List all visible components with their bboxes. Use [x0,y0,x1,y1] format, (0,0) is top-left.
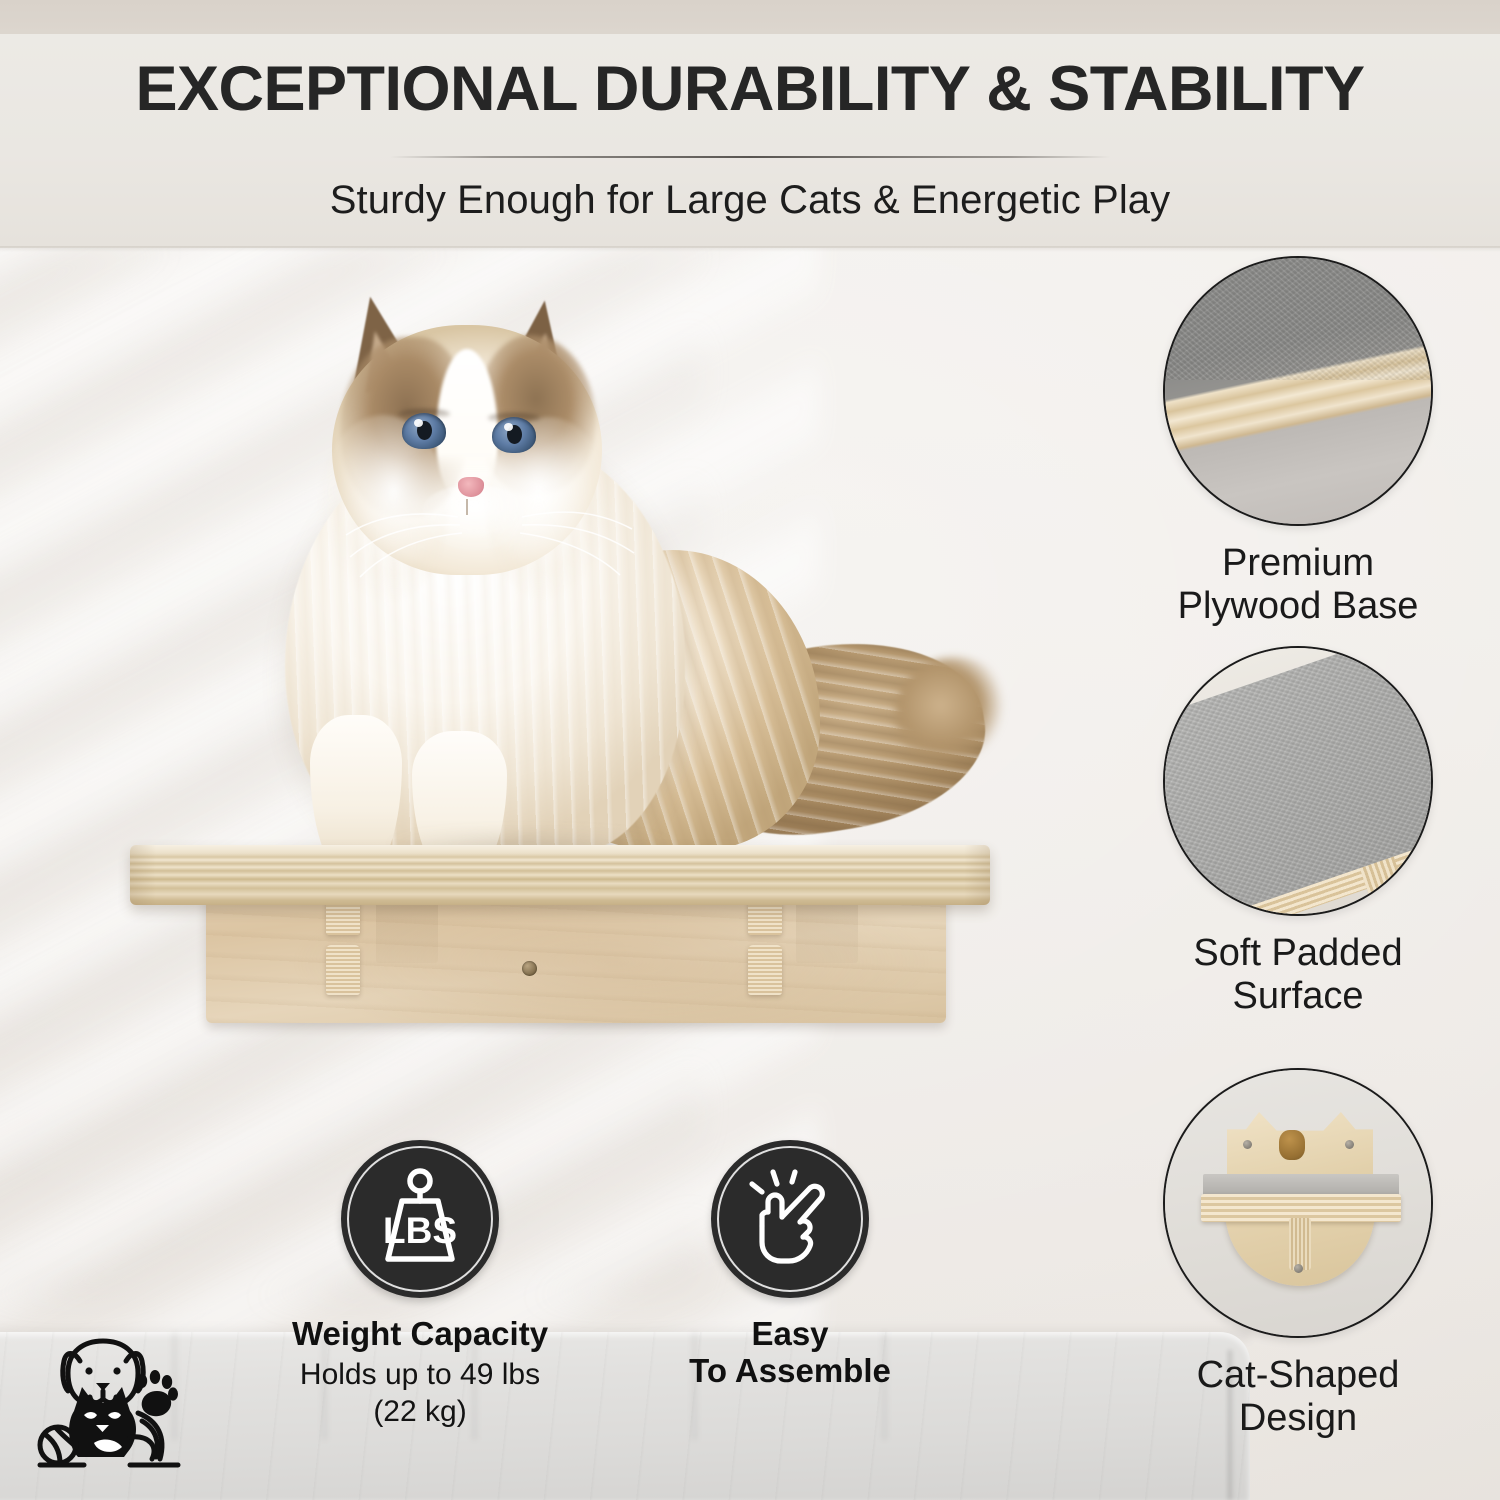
feature-cat-shaped-design: Cat-Shaped Design [1148,1068,1448,1441]
shelf-bracket [326,945,360,995]
cat-eye-glint-right [504,423,513,431]
shelf-edge-left [130,845,156,905]
shelf-felt-pad [1203,1174,1399,1196]
page-subtitle: Sturdy Enough for Large Cats & Energetic… [0,178,1500,223]
feature-premium-plywood-base: Premium Plywood Base [1148,256,1448,629]
brand-engraving-icon [1279,1130,1305,1160]
feature-image-circle [1163,646,1433,916]
cat-tail-tip [895,657,1015,772]
badge-easy-to-assemble: Easy To Assemble [625,1140,955,1394]
backplate-notch-left [376,897,438,963]
infographic-canvas: EXCEPTIONAL DURABILITY & STABILITY Sturd… [0,0,1500,1500]
weight-icon-text: LBS [383,1210,457,1251]
shelf-board [130,845,990,905]
badge-subtitle: Holds up to 49 lbs (22 kg) [255,1357,585,1430]
top-accent-strip [0,0,1500,34]
shelf-support-brace [1289,1218,1311,1270]
mounting-screw [1243,1140,1252,1149]
cat-shaped-shelf-image [1165,1070,1431,1336]
cat-eye-glint-left [414,419,423,427]
ragdoll-cat [190,285,990,875]
shelf-edge-right [964,845,990,905]
shelf-bracket [748,945,782,995]
feature-label: Cat-Shaped Design [1148,1354,1448,1441]
feature-label: Soft Padded Surface [1148,932,1448,1019]
feature-image-circle [1163,1068,1433,1338]
padded-surface-closeup-image [1165,648,1431,914]
feature-soft-padded-surface: Soft Padded Surface [1148,646,1448,1019]
title-divider [390,156,1110,158]
badge-weight-capacity: LBS Weight Capacity Holds up to 49 lbs (… [255,1140,585,1430]
header-bottom-edge [0,246,1500,252]
page-title: EXCEPTIONAL DURABILITY & STABILITY [0,53,1500,125]
wall-mounted-cat-shelf [130,845,990,1045]
feature-label: Premium Plywood Base [1148,542,1448,629]
finger-snap-icon [711,1140,869,1298]
hero-product-photo [110,255,1040,1075]
cat-head-shelf [1217,1112,1382,1292]
dog-cat-paw-ball-logo [34,1325,194,1485]
mounting-screw [522,961,537,976]
weight-lbs-icon: LBS [341,1140,499,1298]
felt-texture-overlay [1165,258,1431,380]
badge-title: Weight Capacity [255,1316,585,1353]
badge-title: Easy To Assemble [625,1316,955,1390]
backplate-notch-right [796,897,858,963]
mounting-screw [1294,1264,1303,1273]
mounting-screw [1345,1140,1354,1149]
feature-image-circle [1163,256,1433,526]
cat-mouth [466,499,480,515]
